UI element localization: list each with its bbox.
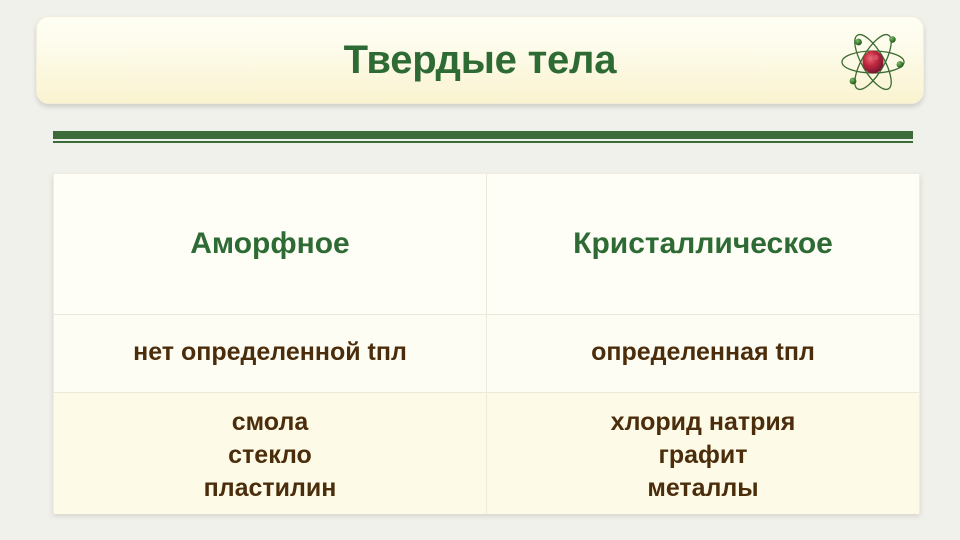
comparison-table: Аморфное Кристаллическое нет определенно… bbox=[53, 173, 920, 513]
examples-list: хлорид натрия графит металлы bbox=[497, 406, 909, 505]
column-header-label: Аморфное bbox=[64, 227, 476, 260]
melting-point-cell-amorphous: нет определенной tпл bbox=[54, 314, 487, 392]
slide: Твердые тела bbox=[0, 0, 960, 540]
green-divider bbox=[53, 131, 913, 143]
list-item: графит bbox=[497, 439, 909, 472]
examples-cell-crystalline: хлорид натрия графит металлы bbox=[487, 392, 920, 514]
page-title: Твердые тела bbox=[37, 40, 923, 80]
column-header-label: Кристаллическое bbox=[497, 227, 909, 260]
table-header-cell-crystalline: Кристаллическое bbox=[487, 174, 920, 314]
examples-cell-amorphous: смола стекло пластилин bbox=[54, 392, 487, 514]
table-row: нет определенной tпл определенная tпл bbox=[54, 314, 919, 392]
melting-point-cell-crystalline: определенная tпл bbox=[487, 314, 920, 392]
title-card: Твердые тела bbox=[36, 16, 924, 104]
list-item: стекло bbox=[64, 439, 476, 472]
table-row: смола стекло пластилин хлорид натрия гра… bbox=[54, 392, 919, 514]
atom-icon bbox=[837, 26, 909, 98]
divider-thick-bar bbox=[53, 131, 913, 139]
table-header-row: Аморфное Кристаллическое bbox=[54, 174, 919, 314]
list-item: смола bbox=[64, 406, 476, 439]
cell-text: нет определенной tпл bbox=[64, 339, 476, 367]
table-header-cell-amorphous: Аморфное bbox=[54, 174, 487, 314]
examples-list: смола стекло пластилин bbox=[64, 406, 476, 505]
cell-text: определенная tпл bbox=[497, 339, 909, 367]
list-item: пластилин bbox=[64, 472, 476, 505]
list-item: металлы bbox=[497, 472, 909, 505]
list-item: хлорид натрия bbox=[497, 406, 909, 439]
divider-thin-line bbox=[53, 141, 913, 143]
